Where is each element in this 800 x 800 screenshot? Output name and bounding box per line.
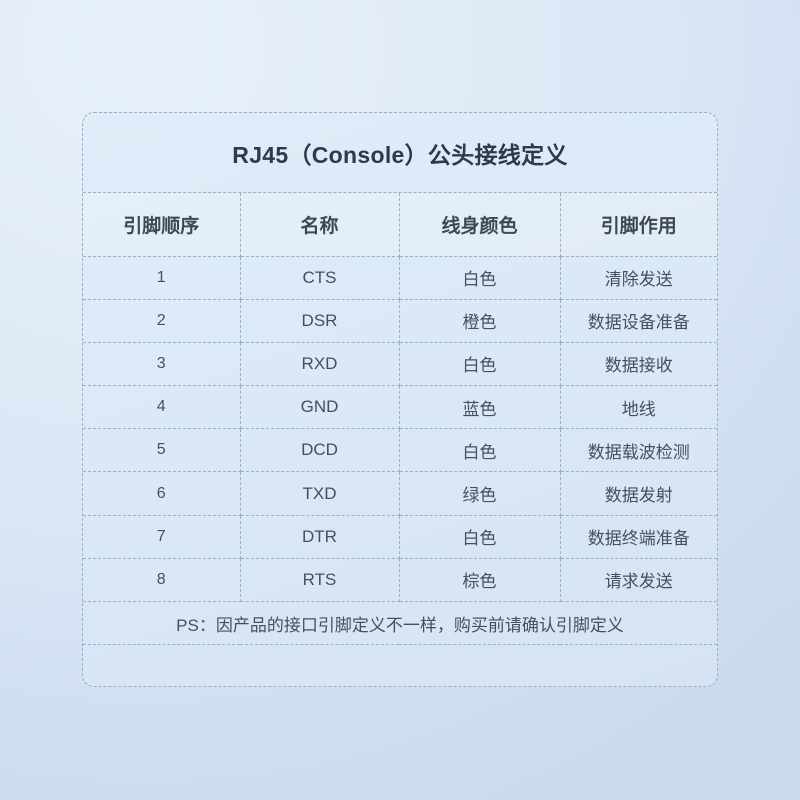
table-row: 7 DTR 白色 数据终端准备: [83, 515, 717, 558]
cell-wire-color: 白色: [399, 429, 560, 472]
table-footer-note-row: PS：因产品的接口引脚定义不一样，购买前请确认引脚定义: [83, 602, 717, 645]
table-row: 4 GND 蓝色 地线: [83, 386, 717, 429]
pinout-card: RJ45（Console）公头接线定义 引脚顺序 名称 线身颜色 引脚作用 1 …: [82, 112, 718, 687]
table-row: 2 DSR 橙色 数据设备准备: [83, 299, 717, 342]
cell-name: GND: [240, 386, 399, 429]
cell-wire-color: 棕色: [399, 558, 560, 601]
cell-pin-function: 数据载波检测: [560, 429, 717, 472]
column-header-pin-function: 引脚作用: [560, 193, 717, 256]
cell-name: DCD: [240, 429, 399, 472]
pinout-table: 引脚顺序 名称 线身颜色 引脚作用 1 CTS 白色 清除发送 2 DSR 橙色…: [83, 193, 717, 645]
cell-wire-color: 绿色: [399, 472, 560, 515]
pinout-disclaimer-note: PS：因产品的接口引脚定义不一样，购买前请确认引脚定义: [83, 602, 717, 645]
cell-pin-order: 3: [83, 342, 240, 385]
cell-pin-order: 1: [83, 256, 240, 299]
page-title: RJ45（Console）公头接线定义: [83, 113, 717, 193]
table-row: 3 RXD 白色 数据接收: [83, 342, 717, 385]
table-body: 1 CTS 白色 清除发送 2 DSR 橙色 数据设备准备 3 RXD 白色 数…: [83, 256, 717, 645]
cell-wire-color: 蓝色: [399, 386, 560, 429]
cell-pin-function: 数据设备准备: [560, 299, 717, 342]
cell-wire-color: 白色: [399, 342, 560, 385]
cell-pin-order: 5: [83, 429, 240, 472]
column-header-wire-color: 线身颜色: [399, 193, 560, 256]
cell-pin-function: 请求发送: [560, 558, 717, 601]
cell-pin-function: 数据终端准备: [560, 515, 717, 558]
cell-pin-order: 4: [83, 386, 240, 429]
cell-name: CTS: [240, 256, 399, 299]
cell-pin-order: 2: [83, 299, 240, 342]
cell-name: RTS: [240, 558, 399, 601]
cell-wire-color: 白色: [399, 256, 560, 299]
cell-name: TXD: [240, 472, 399, 515]
table-row: 1 CTS 白色 清除发送: [83, 256, 717, 299]
table-header-row: 引脚顺序 名称 线身颜色 引脚作用: [83, 193, 717, 256]
table-header: 引脚顺序 名称 线身颜色 引脚作用: [83, 193, 717, 256]
table-row: 5 DCD 白色 数据载波检测: [83, 429, 717, 472]
cell-name: DSR: [240, 299, 399, 342]
table-row: 6 TXD 绿色 数据发射: [83, 472, 717, 515]
cell-name: RXD: [240, 342, 399, 385]
cell-pin-function: 清除发送: [560, 256, 717, 299]
cell-pin-order: 7: [83, 515, 240, 558]
cell-pin-order: 6: [83, 472, 240, 515]
cell-wire-color: 橙色: [399, 299, 560, 342]
cell-pin-order: 8: [83, 558, 240, 601]
cell-pin-function: 地线: [560, 386, 717, 429]
cell-pin-function: 数据接收: [560, 342, 717, 385]
cell-name: DTR: [240, 515, 399, 558]
column-header-pin-order: 引脚顺序: [83, 193, 240, 256]
cell-pin-function: 数据发射: [560, 472, 717, 515]
column-header-name: 名称: [240, 193, 399, 256]
table-row: 8 RTS 棕色 请求发送: [83, 558, 717, 601]
cell-wire-color: 白色: [399, 515, 560, 558]
